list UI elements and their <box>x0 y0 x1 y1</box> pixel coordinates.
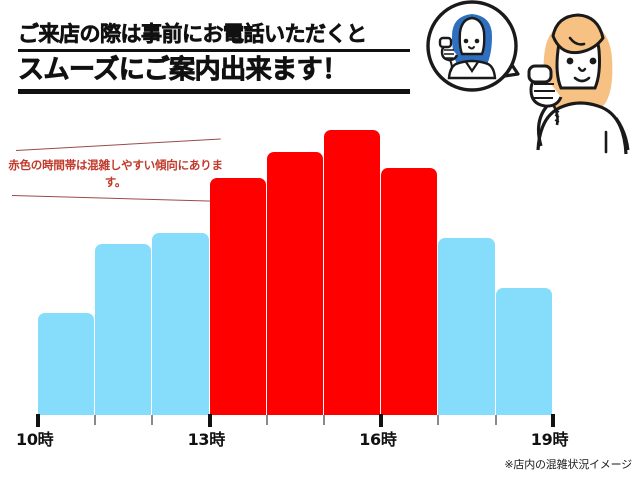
axis-tick-7 <box>437 415 439 425</box>
axis-tick-1 <box>94 415 96 425</box>
axis-tick-5 <box>323 415 325 425</box>
congestion-chart-poster: ご来店の際は事前にお電話いただくと スムーズにご案内出来ます！ 赤色の時間帯は混… <box>0 0 640 480</box>
axis-label-10時: 10時 <box>16 426 53 450</box>
bar-chart: 10時13時16時19時 <box>0 0 640 480</box>
bar-14時 <box>267 152 323 415</box>
bar-15時 <box>324 130 380 415</box>
axis-tick-8 <box>495 415 497 425</box>
axis-tick-4 <box>266 415 268 425</box>
axis-tick-2 <box>151 415 153 425</box>
bar-11時 <box>95 244 151 415</box>
bar-18時 <box>496 288 552 415</box>
axis-label-13時: 13時 <box>188 426 225 450</box>
axis-label-16時: 16時 <box>359 426 396 450</box>
chart-footnote: ※店内の混雑状況イメージ <box>504 456 632 472</box>
bar-17時 <box>438 238 494 415</box>
bar-16時 <box>381 168 437 415</box>
bar-13時 <box>210 178 266 415</box>
bar-10時 <box>38 313 94 415</box>
axis-label-19時: 19時 <box>531 426 568 450</box>
bar-12時 <box>152 233 208 415</box>
